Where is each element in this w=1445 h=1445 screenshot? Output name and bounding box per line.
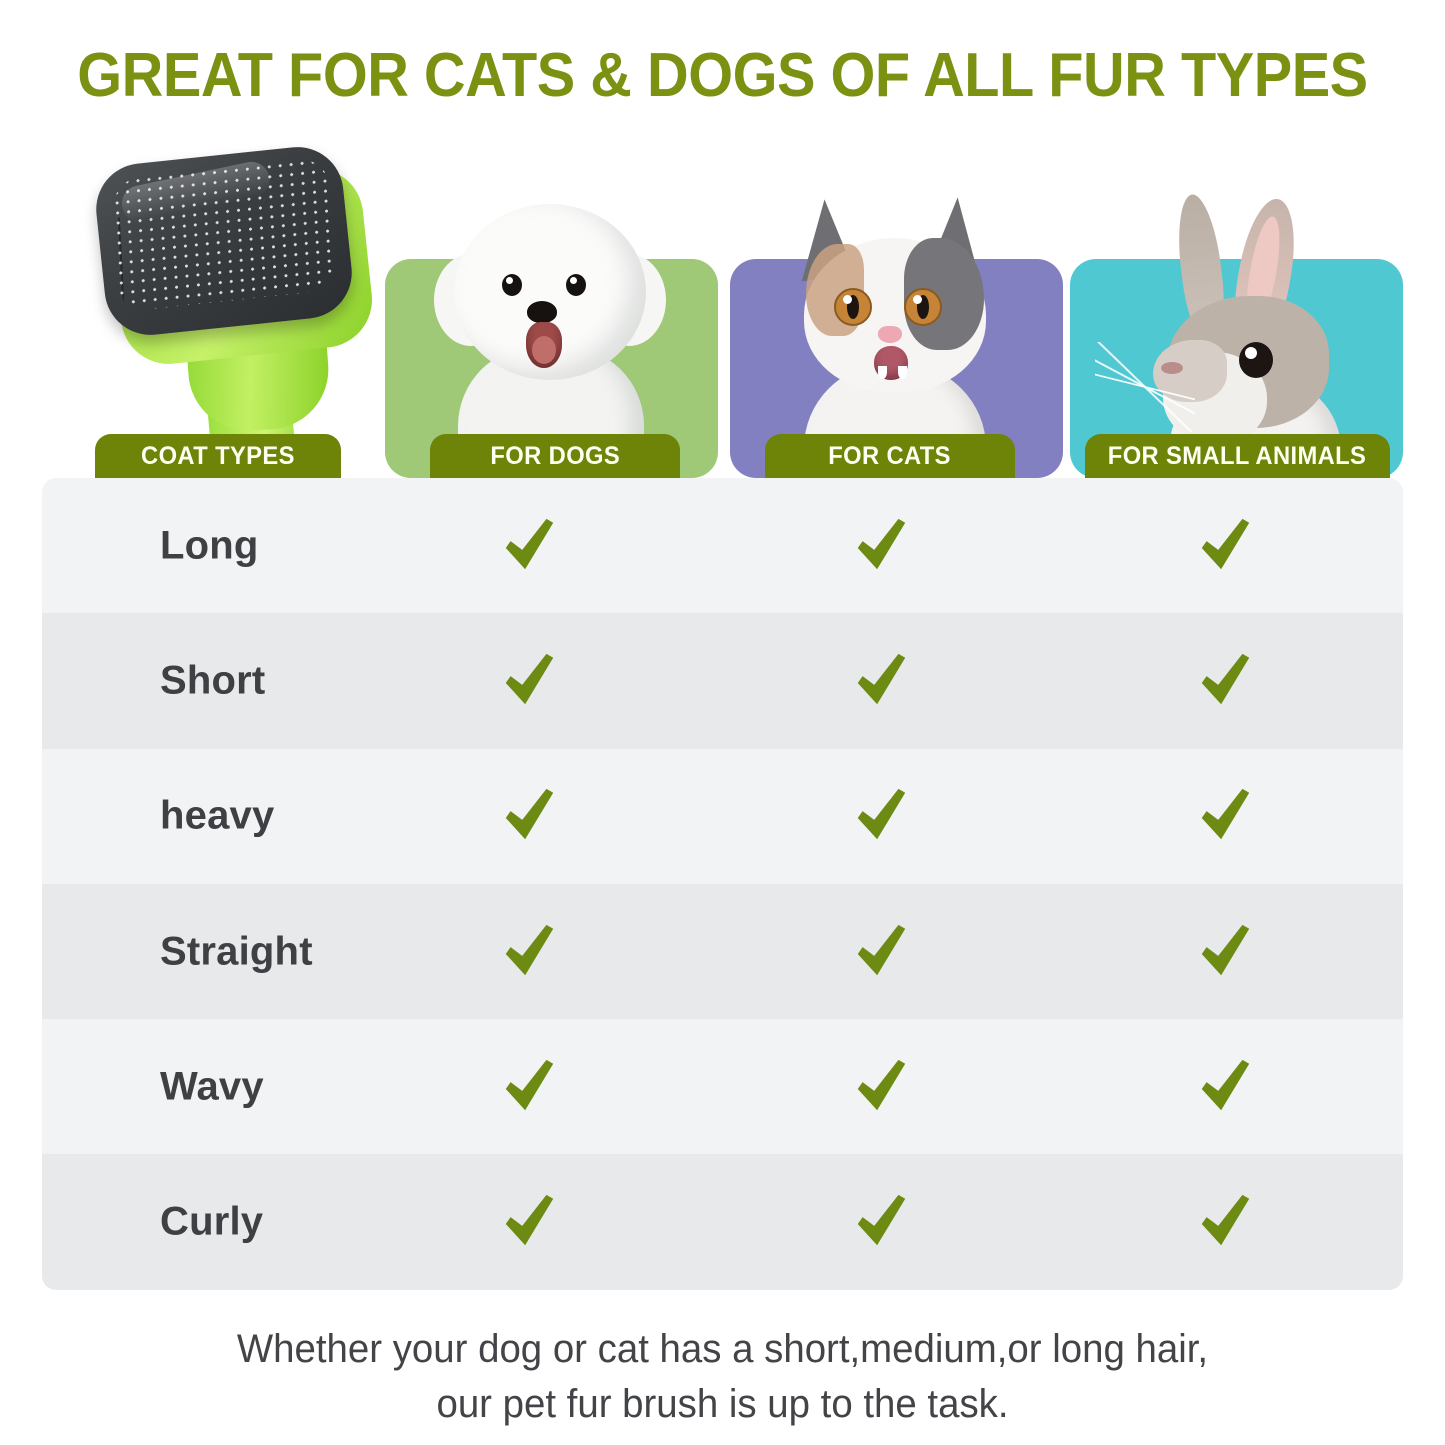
check-icon: [850, 785, 912, 847]
check-icon: [1194, 650, 1256, 712]
column-header-coat-types: COAT TYPES: [95, 434, 341, 478]
check-icon: [850, 1056, 912, 1118]
rabbit-eye: [1239, 342, 1273, 378]
page-title: GREAT FOR CATS & DOGS OF ALL FUR TYPES: [51, 40, 1395, 111]
table-row: Short: [42, 613, 1403, 748]
cat-eye-right: [904, 288, 942, 326]
footer-caption-line-1: Whether your dog or cat has a short,medi…: [29, 1322, 1416, 1377]
row-label-short: Short: [160, 658, 265, 703]
cat-eye-left: [834, 288, 872, 326]
check-icon: [850, 1191, 912, 1253]
column-header-for-cats: FOR CATS: [765, 434, 1015, 478]
check-icon: [498, 1056, 560, 1118]
footer-caption-line-2: our pet fur brush is up to the task.: [29, 1377, 1416, 1432]
table-row: Straight: [42, 884, 1403, 1019]
row-label-straight: Straight: [160, 929, 313, 974]
check-icon: [498, 921, 560, 983]
row-label-long: Long: [160, 523, 259, 568]
row-label-curly: Curly: [160, 1200, 263, 1245]
dog-eye-right: [566, 274, 586, 296]
row-label-heavy: heavy: [160, 794, 274, 839]
check-icon: [850, 650, 912, 712]
check-icon: [498, 1191, 560, 1253]
check-icon: [1194, 785, 1256, 847]
check-icon: [498, 515, 560, 577]
pet-brush-image: [78, 140, 378, 470]
cat-tooth-left: [878, 366, 887, 379]
column-header-coat-types-label: COAT TYPES: [141, 442, 295, 471]
column-header-for-cats-label: FOR CATS: [829, 442, 952, 471]
infographic-canvas: GREAT FOR CATS & DOGS OF ALL FUR TYPES: [0, 0, 1445, 1445]
table-row: Curly: [42, 1154, 1403, 1289]
footer-caption: Whether your dog or cat has a short,medi…: [29, 1322, 1416, 1432]
column-header-for-dogs-label: FOR DOGS: [490, 442, 620, 471]
column-header-for-small-animals: FOR SMALL ANIMALS: [1085, 434, 1390, 478]
check-icon: [1194, 1056, 1256, 1118]
check-icon: [498, 785, 560, 847]
cat-tooth-right: [898, 366, 907, 379]
check-icon: [1194, 515, 1256, 577]
dog-tongue: [532, 336, 556, 364]
rabbit-whiskers: [1095, 342, 1195, 432]
dog-nose: [527, 301, 557, 323]
column-header-for-small-animals-label: FOR SMALL ANIMALS: [1108, 442, 1366, 471]
check-icon: [1194, 1191, 1256, 1253]
table-row: Long: [42, 478, 1403, 613]
rabbit-nose: [1161, 362, 1183, 374]
row-label-wavy: Wavy: [160, 1064, 264, 1109]
column-header-for-dogs: FOR DOGS: [430, 434, 680, 478]
cat-nose: [878, 326, 902, 343]
table-row: Wavy: [42, 1019, 1403, 1154]
brush-pin-pad: [92, 143, 357, 340]
check-icon: [1194, 921, 1256, 983]
table-row: heavy: [42, 749, 1403, 884]
check-icon: [850, 921, 912, 983]
dog-eye-left: [502, 274, 522, 296]
check-icon: [498, 650, 560, 712]
check-icon: [850, 515, 912, 577]
coat-type-comparison-table: Long Short heavy Straight Wavy: [42, 478, 1403, 1290]
